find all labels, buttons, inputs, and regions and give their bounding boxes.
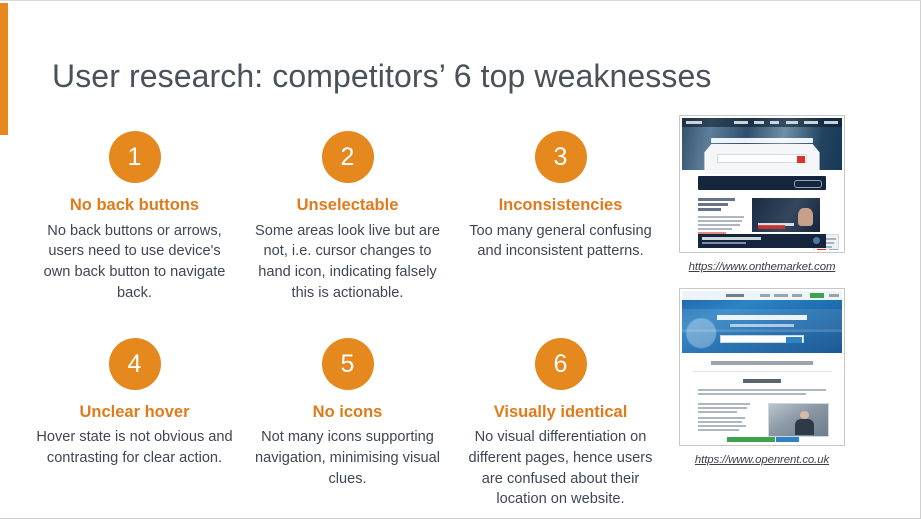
- openrent-landlord-copy: [698, 403, 752, 433]
- weakness-card-1[interactable]: 1 No back buttons No back buttons or arr…: [28, 131, 241, 304]
- openrent-top-navbar: [682, 291, 842, 300]
- left-accent-bar: [0, 3, 8, 135]
- openrent-search-input[interactable]: [720, 335, 803, 343]
- card-row-bottom: 4 Unclear hover Hover state is not obvio…: [28, 338, 668, 511]
- screenshot-frame-openrent[interactable]: [679, 288, 845, 446]
- weakness-card-4[interactable]: 4 Unclear hover Hover state is not obvio…: [28, 338, 241, 511]
- openrent-landlords-heading: [743, 379, 781, 383]
- openrent-landlord-photo: [768, 403, 829, 437]
- weakness-card-5[interactable]: 5 No icons Not many icons supporting nav…: [241, 338, 454, 511]
- screenshot-frame-onthemarket[interactable]: [679, 115, 845, 253]
- otm-person-photo: [798, 208, 813, 226]
- card-body-6: No visual differentiation on different p…: [460, 427, 661, 510]
- openrent-signup-button[interactable]: [810, 293, 824, 298]
- openrent-search-button[interactable]: [786, 337, 802, 343]
- screenshot-caption-onthemarket[interactable]: https://www.onthemarket.com: [679, 261, 845, 273]
- openrent-rating-line: [711, 361, 813, 365]
- card-title-1: No back buttons: [34, 195, 235, 216]
- weakness-card-grid: 1 No back buttons No back buttons or arr…: [28, 131, 668, 510]
- screenshot-caption-openrent[interactable]: https://www.openrent.co.uk: [679, 454, 845, 466]
- card-body-1: No back buttons or arrows, users need to…: [34, 221, 235, 304]
- card-title-3: Inconsistencies: [460, 195, 661, 216]
- page-title: User research: competitors’ 6 top weakne…: [52, 58, 712, 95]
- screenshot-image-onthemarket: [682, 118, 842, 250]
- badge-number-1: 1: [109, 131, 161, 183]
- card-body-3: Too many general confusing and inconsist…: [460, 221, 661, 262]
- otm-promo-cta[interactable]: [794, 180, 822, 188]
- openrent-hero-banner: [682, 291, 842, 353]
- badge-number-4: 4: [109, 338, 161, 390]
- otm-video-card[interactable]: [752, 198, 819, 232]
- otm-hero-headline: [711, 138, 813, 143]
- badge-number-6: 6: [535, 338, 587, 390]
- card-row-spacer: [28, 304, 668, 338]
- weakness-card-6[interactable]: 6 Visually identical No visual different…: [454, 338, 667, 511]
- otm-search-input[interactable]: [717, 154, 807, 163]
- screenshot-image-openrent: [682, 291, 842, 443]
- badge-number-2: 2: [322, 131, 374, 183]
- otm-promo-strip: [698, 176, 826, 190]
- screenshot-block-onthemarket: https://www.onthemarket.com: [679, 115, 845, 273]
- card-body-2: Some areas look live but are not, i.e. c…: [247, 221, 448, 304]
- card-row-top: 1 No back buttons No back buttons or arr…: [28, 131, 668, 304]
- badge-number-5: 5: [322, 338, 374, 390]
- otm-top-navbar: [682, 118, 842, 127]
- card-title-2: Unselectable: [247, 195, 448, 216]
- card-body-4: Hover state is not obvious and contrasti…: [34, 427, 235, 468]
- card-title-6: Visually identical: [460, 402, 661, 423]
- badge-number-3: 3: [535, 131, 587, 183]
- otm-search-button[interactable]: [797, 156, 805, 163]
- screenshot-block-openrent: https://www.openrent.co.uk: [679, 288, 845, 466]
- card-title-5: No icons: [247, 402, 448, 423]
- slide-canvas: User research: competitors’ 6 top weakne…: [0, 0, 921, 519]
- openrent-hero-headline: [717, 315, 807, 320]
- weakness-card-3[interactable]: 3 Inconsistencies Too many general confu…: [454, 131, 667, 304]
- card-title-4: Unclear hover: [34, 402, 235, 423]
- card-body-5: Not many icons supporting navigation, mi…: [247, 427, 448, 489]
- otm-footer-strip: [698, 234, 826, 248]
- weakness-card-2[interactable]: 2 Unselectable Some areas look live but …: [241, 131, 454, 304]
